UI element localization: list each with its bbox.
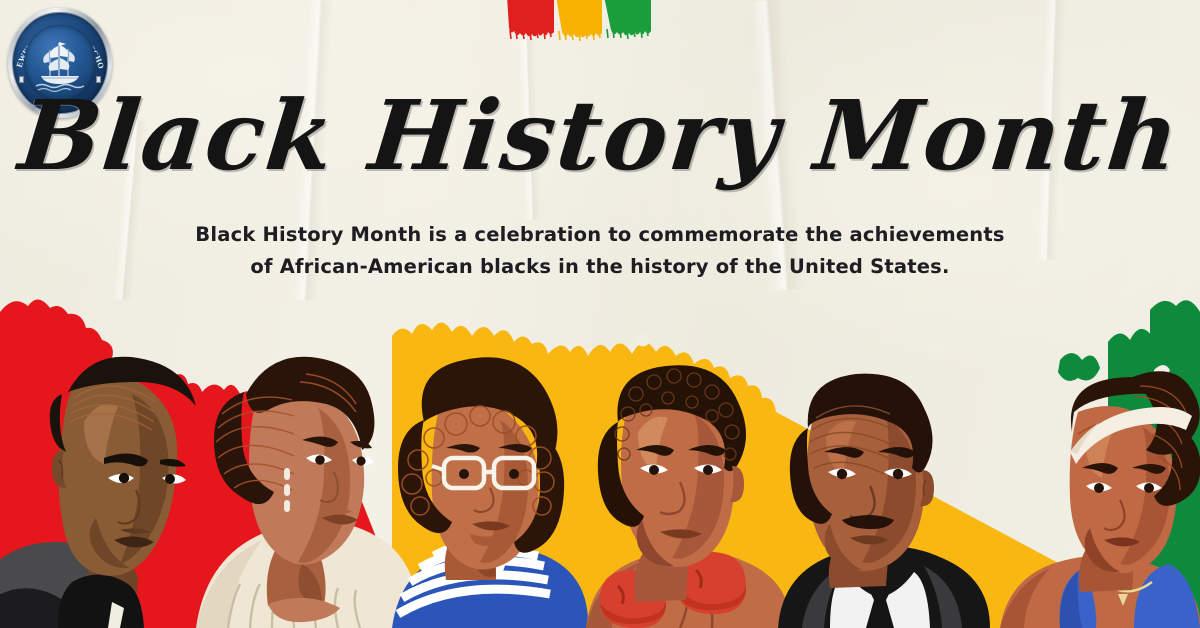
brush-stroke-yellow xyxy=(556,0,602,41)
figure-athlete-with-headband xyxy=(1000,371,1200,628)
drop-earring-icon xyxy=(284,468,290,512)
seal-tick-left xyxy=(19,76,24,83)
brush-stroke-red xyxy=(507,0,554,40)
black-history-month-poster: HOPEWELL CITY PUBLIC SCHOOLS VIRGINIA xyxy=(0,0,1200,628)
pan-african-brush-strokes xyxy=(504,0,654,48)
brush-stroke-green xyxy=(604,0,651,39)
page-subtitle: Black History Month is a celebration to … xyxy=(185,219,1015,282)
page-title: Black History Month xyxy=(0,88,1200,184)
figure-man-in-suit-and-tie xyxy=(778,374,990,628)
portrait-band xyxy=(0,282,1200,628)
